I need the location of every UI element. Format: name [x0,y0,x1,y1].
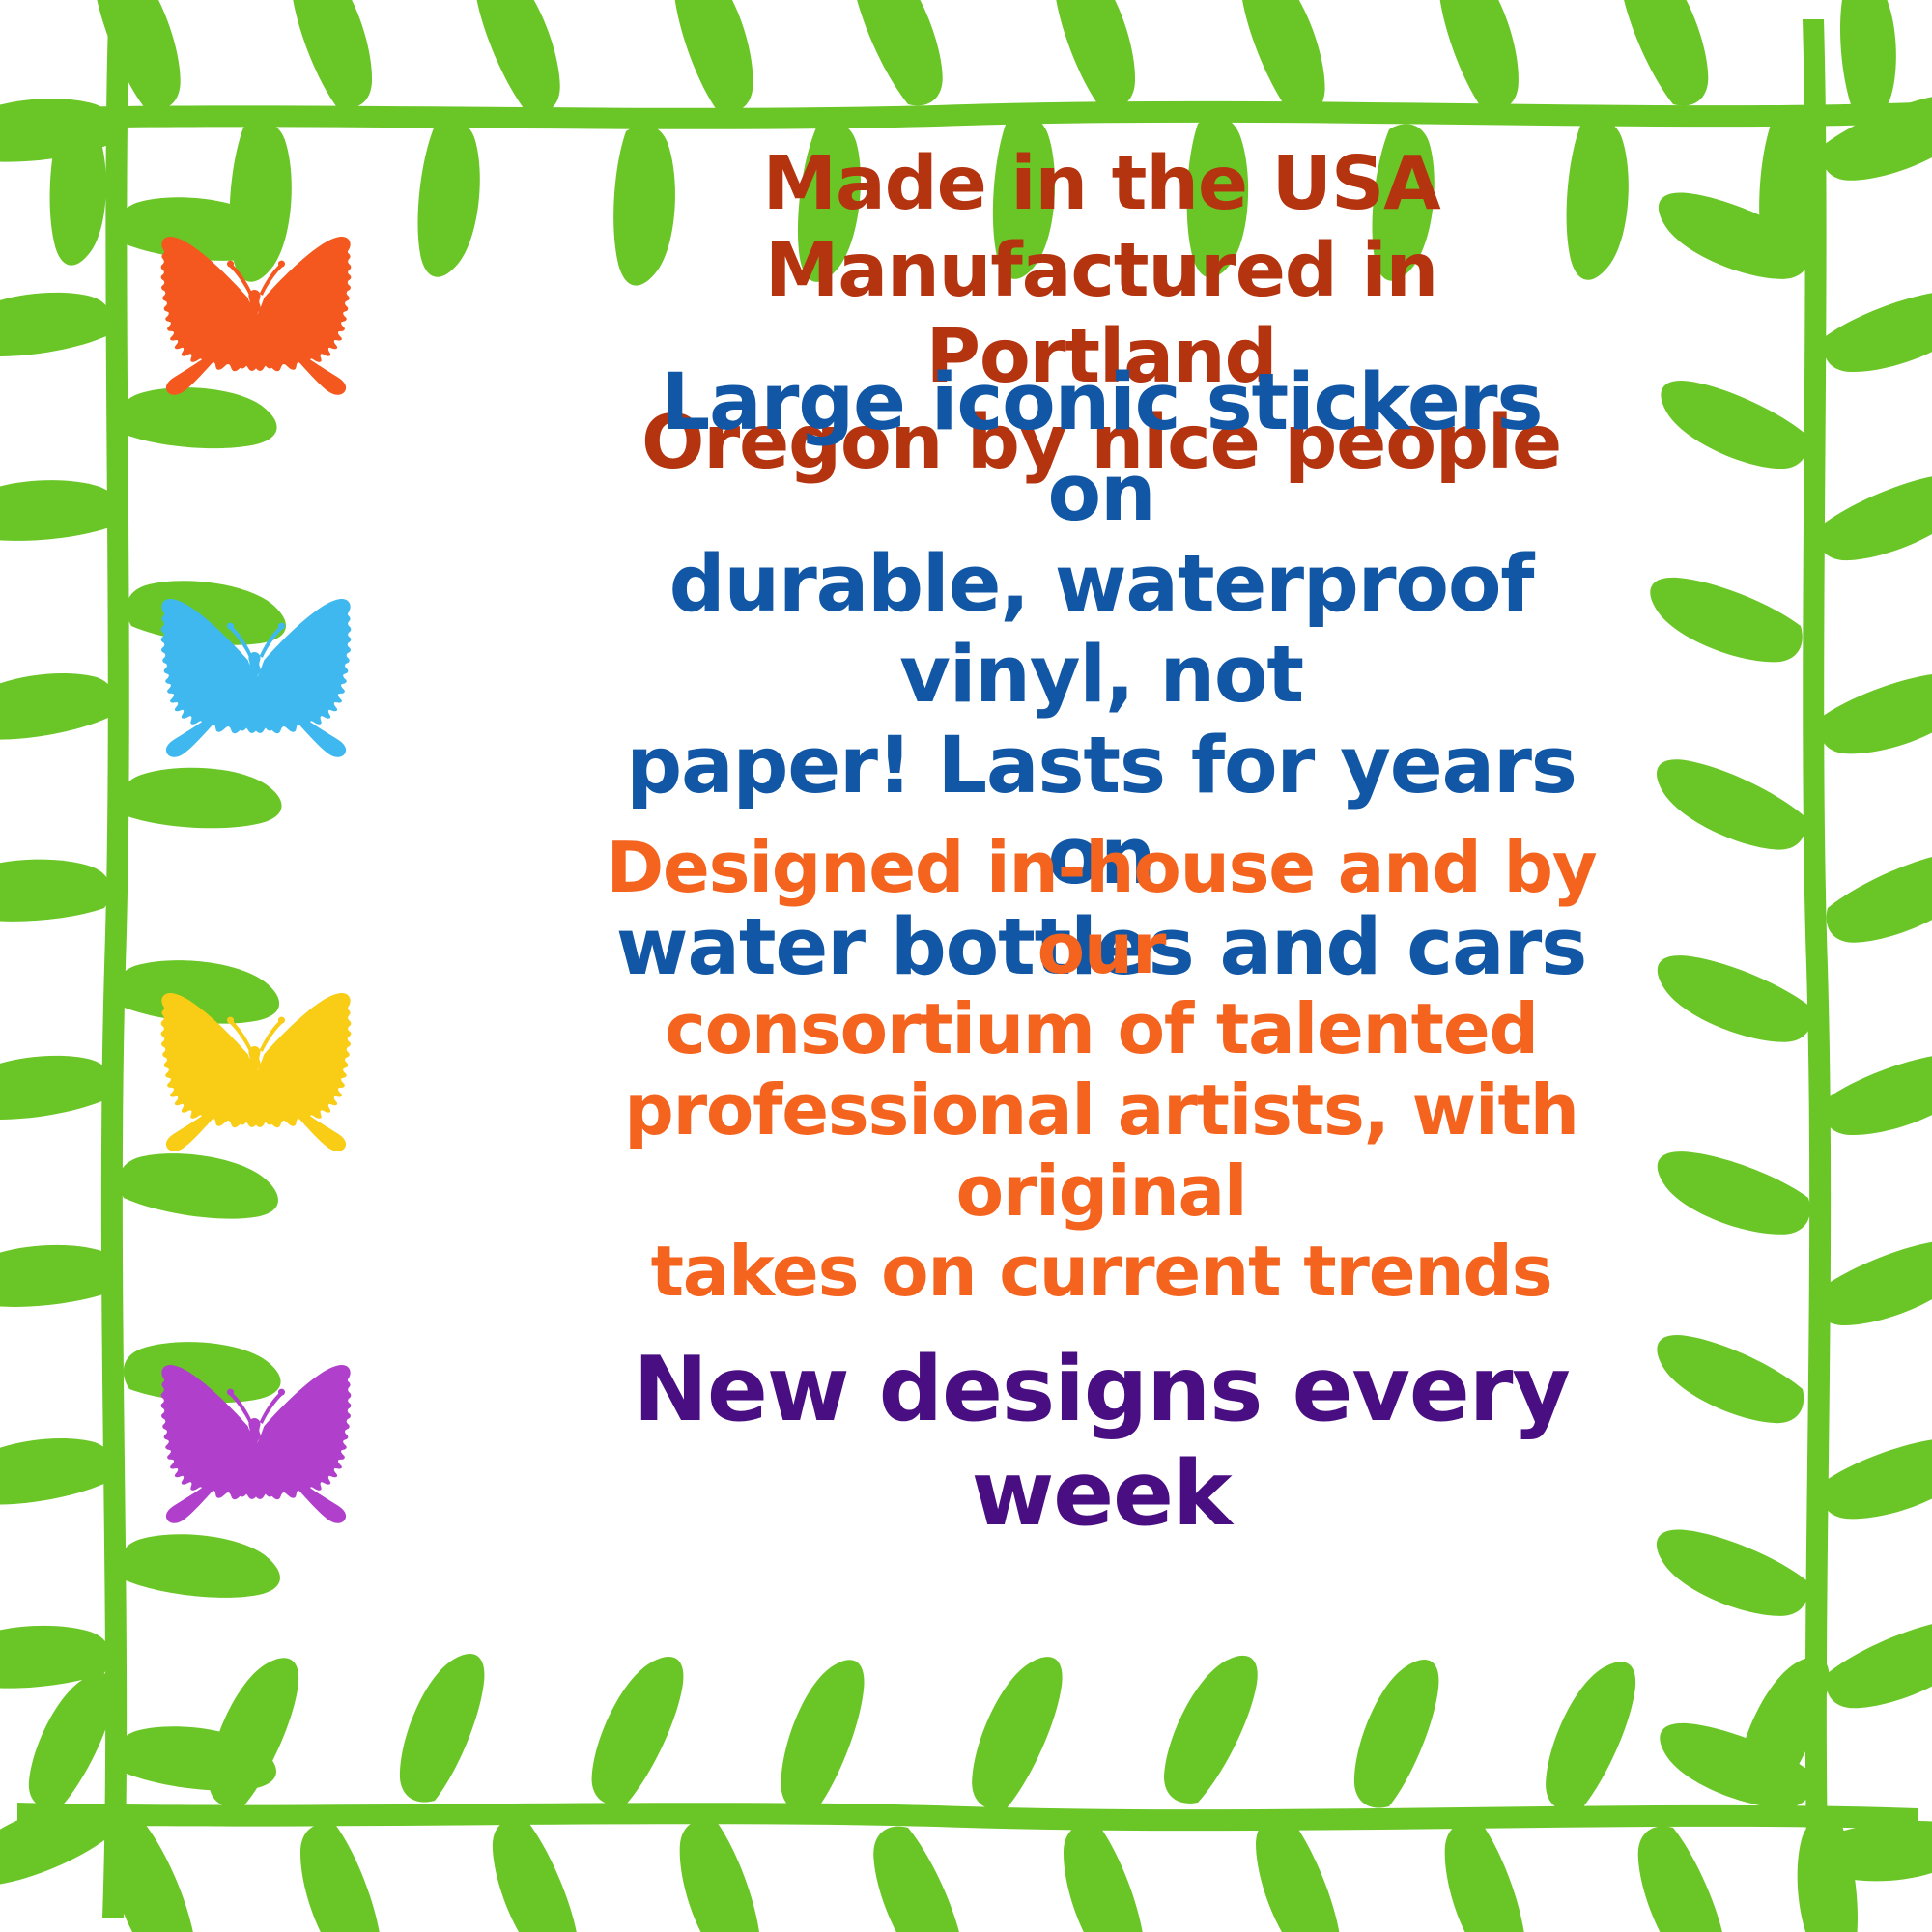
butterfly-icon [135,555,377,797]
butterfly-icon-cell [106,483,406,869]
feature-row: New designs every week [106,1283,1826,1602]
butterfly-icon [135,950,377,1191]
butterfly-icon [135,1321,377,1563]
feature-text-designed-in-house: Designed in-house and by our consortium … [594,828,1608,1312]
feature-text-new-designs: New designs every week [589,1338,1613,1547]
feature-text-cell: New designs every week [406,1283,1826,1602]
feature-row: Large iconic stickers on durable, waterp… [106,483,1826,869]
feature-text-cell: Designed in-house and by our consortium … [406,877,1826,1264]
feature-row: Designed in-house and by our consortium … [106,877,1826,1264]
butterfly-icon-cell [106,877,406,1264]
feature-list: Made in the USA Manufactured in Portland… [106,106,1826,1826]
feature-text-cell: Large iconic stickers on durable, waterp… [406,483,1826,869]
butterfly-icon [135,193,377,435]
feature-graphic-canvas: Made in the USA Manufactured in Portland… [0,0,1932,1932]
butterfly-icon-cell [106,1283,406,1602]
butterfly-icon-cell [106,155,406,473]
